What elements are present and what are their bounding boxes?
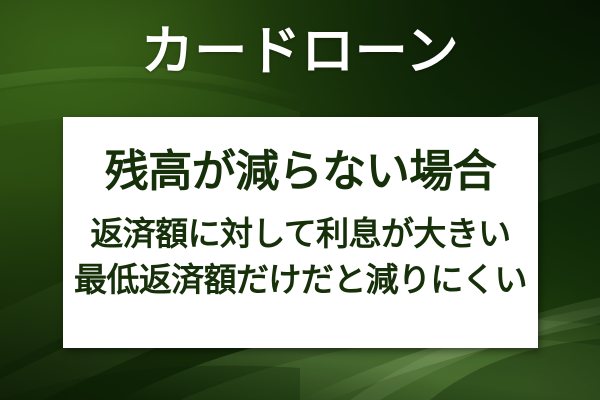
card-heading: 残高が減らない場合 <box>105 149 497 195</box>
card-body-line-2: 最低返済額だけだと減りにくい <box>74 257 527 303</box>
card-body-lines: 返済額に対して利息が大きい 最低返済額だけだと減りにくい <box>74 211 527 302</box>
poster-root: カードローン 残高が減らない場合 返済額に対して利息が大きい 最低返済額だけだと… <box>0 0 600 400</box>
poster-title: カードローン <box>0 22 600 81</box>
card-body-line-1: 返済額に対して利息が大きい <box>74 211 527 257</box>
content-card: 残高が減らない場合 返済額に対して利息が大きい 最低返済額だけだと減りにくい <box>63 117 538 348</box>
